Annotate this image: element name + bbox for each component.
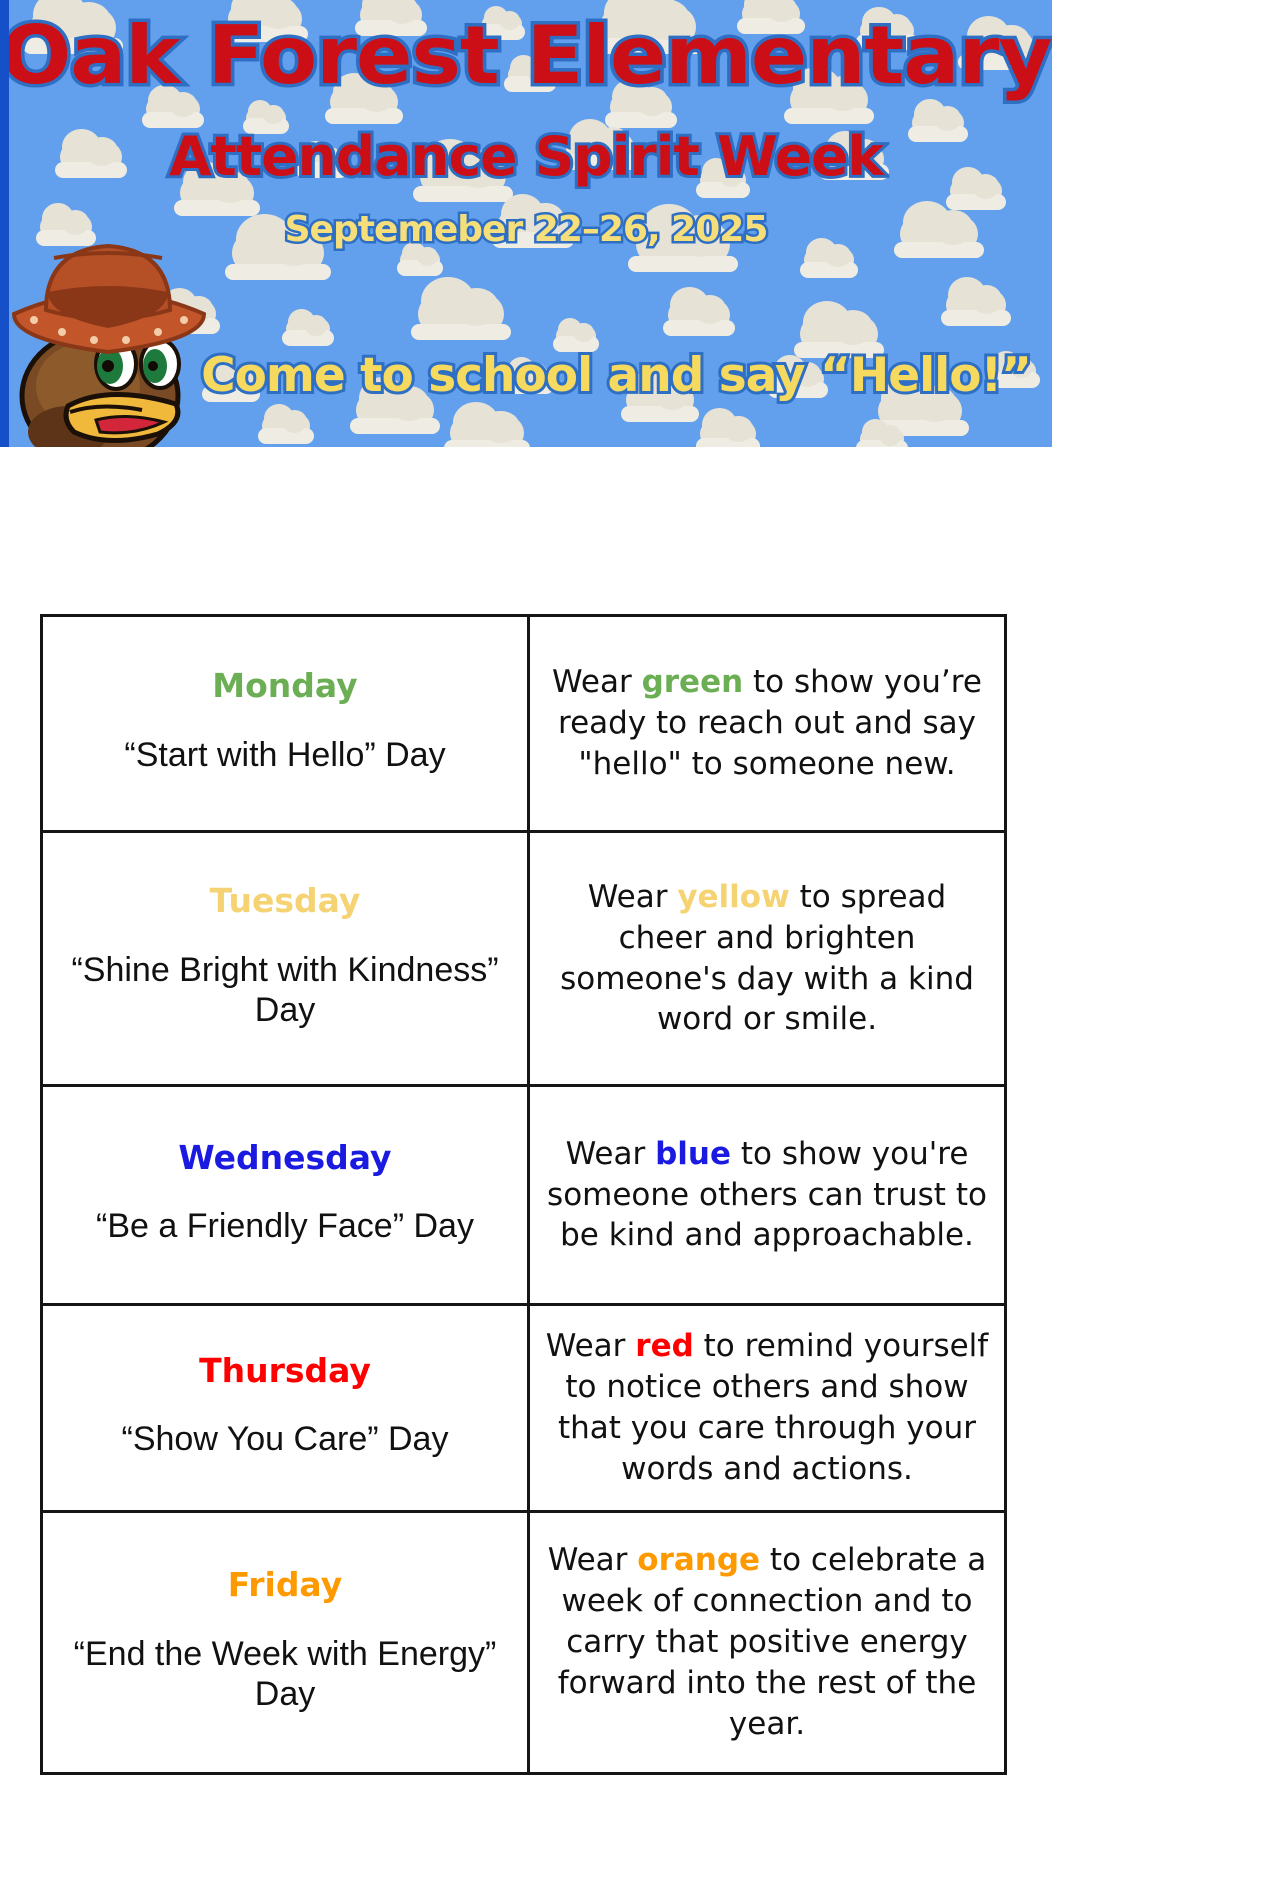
day-name-label: Thursday xyxy=(57,1353,513,1389)
table-row: Wednesday“Be a Friendly Face” DayWear bl… xyxy=(42,1086,1006,1305)
page-title: Oak Forest Elementary xyxy=(0,16,1052,96)
day-theme-label: “Shine Bright with Kindness” Day xyxy=(57,950,513,1030)
day-theme-label: “Start with Hello” Day xyxy=(57,735,513,775)
table-row: Monday“Start with Hello” DayWear green t… xyxy=(42,616,1006,832)
day-theme-label: “Be a Friendly Face” Day xyxy=(57,1206,513,1246)
spirit-week-schedule-table: Monday“Start with Hello” DayWear green t… xyxy=(40,614,1007,1775)
banner-left-edge-strip xyxy=(0,0,9,447)
instruction-cell: Wear green to show you’re ready to reach… xyxy=(529,616,1006,832)
tagline: Come to school and say “Hello!” xyxy=(180,352,1052,399)
day-cell: Wednesday“Be a Friendly Face” Day xyxy=(42,1086,529,1305)
instruction-cell: Wear blue to show you're someone others … xyxy=(529,1086,1006,1305)
page-subtitle: Attendance Spirit Week xyxy=(0,130,1052,184)
color-word-highlight: yellow xyxy=(677,879,789,915)
color-word-highlight: green xyxy=(642,664,744,700)
day-name-label: Friday xyxy=(57,1567,513,1603)
color-word-highlight: blue xyxy=(655,1136,731,1172)
instruction-text-before: Wear xyxy=(552,664,642,700)
instruction-cell: Wear yellow to spread cheer and brighten… xyxy=(529,832,1006,1086)
day-cell: Friday“End the Week with Energy” Day xyxy=(42,1512,529,1774)
day-cell: Thursday“Show You Care” Day xyxy=(42,1305,529,1512)
event-dates: Septemeber 22–26, 2025 xyxy=(0,212,1052,248)
color-word-highlight: red xyxy=(635,1328,694,1364)
instruction-text-before: Wear xyxy=(548,1542,638,1578)
day-theme-label: “Show You Care” Day xyxy=(57,1419,513,1459)
day-name-label: Tuesday xyxy=(57,883,513,919)
color-word-highlight: orange xyxy=(637,1542,760,1578)
day-cell: Monday“Start with Hello” Day xyxy=(42,616,529,832)
table-row: Tuesday“Shine Bright with Kindness” DayW… xyxy=(42,832,1006,1086)
day-name-label: Monday xyxy=(57,668,513,704)
instruction-text-before: Wear xyxy=(588,879,678,915)
header-banner: Oak Forest Elementary Attendance Spirit … xyxy=(0,0,1052,447)
table-row: Friday“End the Week with Energy” DayWear… xyxy=(42,1512,1006,1774)
instruction-cell: Wear red to remind yourself to notice ot… xyxy=(529,1305,1006,1512)
day-cell: Tuesday“Shine Bright with Kindness” Day xyxy=(42,832,529,1086)
instruction-text-before: Wear xyxy=(566,1136,656,1172)
day-theme-label: “End the Week with Energy” Day xyxy=(57,1634,513,1714)
instruction-text-before: Wear xyxy=(546,1328,636,1364)
instruction-cell: Wear orange to celebrate a week of conne… xyxy=(529,1512,1006,1774)
day-name-label: Wednesday xyxy=(57,1140,513,1176)
table-row: Thursday“Show You Care” DayWear red to r… xyxy=(42,1305,1006,1512)
